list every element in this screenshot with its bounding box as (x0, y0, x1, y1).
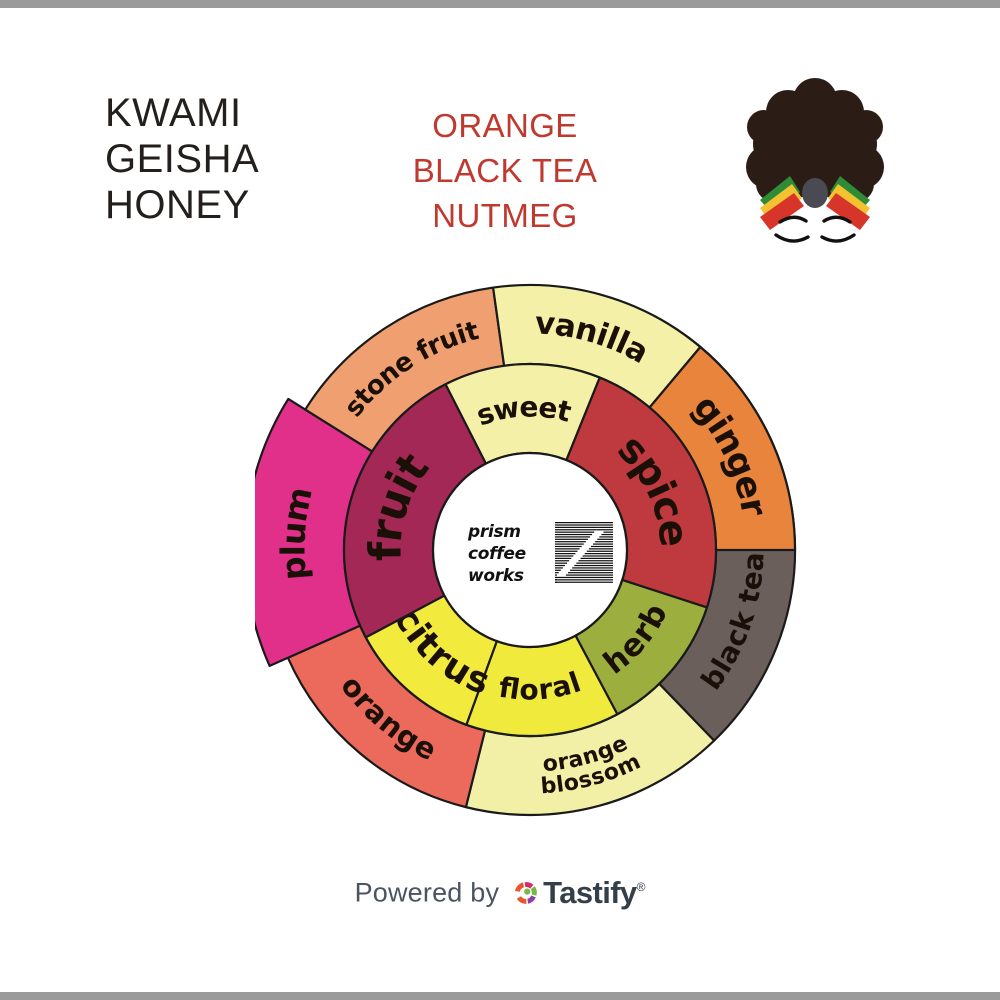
avatar-bow-knot (802, 178, 828, 208)
coffee-flavor-wheel: nutmegblack teaorangeblossomorangeplumst… (255, 275, 805, 845)
brand-line-2: coffee (468, 544, 526, 564)
tasting-note-3: NUTMEG (380, 193, 630, 238)
bottom-edge-bar (0, 992, 1000, 1000)
coffee-name-line-1: KWAMI (105, 90, 395, 136)
top-edge-bar (0, 0, 1000, 8)
wheel-hub (433, 453, 627, 647)
powered-by-label: Powered by (355, 878, 500, 908)
roaster-portrait-illustration (730, 72, 900, 252)
tasting-note-2: BLACK TEA (380, 148, 630, 193)
infographic-page: KWAMI GEISHA HONEY ORANGE BLACK TEA NUTM… (0, 0, 1000, 1000)
brand-line-1: prism (467, 522, 521, 542)
footer: Powered by Tastify® (0, 875, 1000, 911)
tasting-note-1: ORANGE (380, 103, 630, 148)
coffee-name-line-2: GEISHA (105, 136, 395, 182)
brand-line-3: works (468, 566, 524, 586)
tasting-notes: ORANGE BLACK TEA NUTMEG (380, 103, 630, 238)
coffee-name: KWAMI GEISHA HONEY (105, 90, 395, 228)
wheel-label-plum: plum (273, 484, 320, 582)
tastify-logo-icon (511, 878, 541, 908)
coffee-name-line-3: HONEY (105, 182, 395, 228)
tastify-wordmark: Tastify (543, 875, 636, 910)
tastify-trademark: ® (637, 880, 646, 894)
